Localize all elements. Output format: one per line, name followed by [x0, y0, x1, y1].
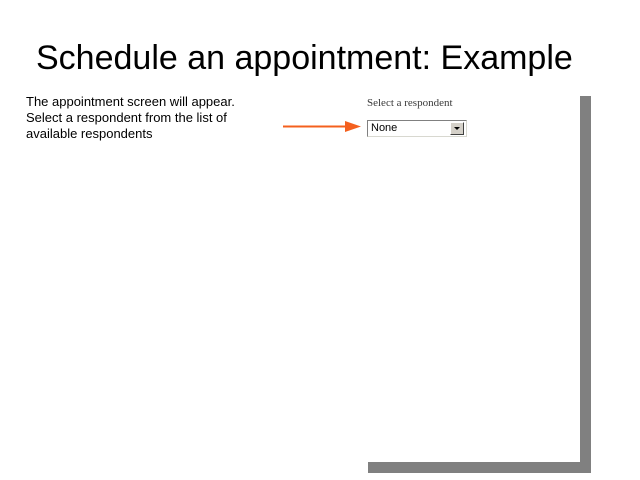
respondent-select-value: None [368, 122, 450, 135]
right-arrow-icon [283, 120, 363, 133]
slide-canvas: Schedule an appointment: Example The app… [0, 0, 640, 480]
page-title: Schedule an appointment: Example [36, 38, 616, 78]
screenshot-shadow-right [580, 96, 591, 473]
embedded-screenshot: Select a respondent None [362, 92, 580, 462]
respondent-field-label: Select a respondent [367, 97, 453, 110]
screenshot-shadow-bottom [368, 462, 591, 473]
chevron-down-glyph [454, 127, 460, 130]
chevron-down-icon[interactable] [450, 122, 464, 135]
respondent-select[interactable]: None [367, 120, 467, 137]
body-text: The appointment screen will appear. Sele… [26, 94, 258, 142]
